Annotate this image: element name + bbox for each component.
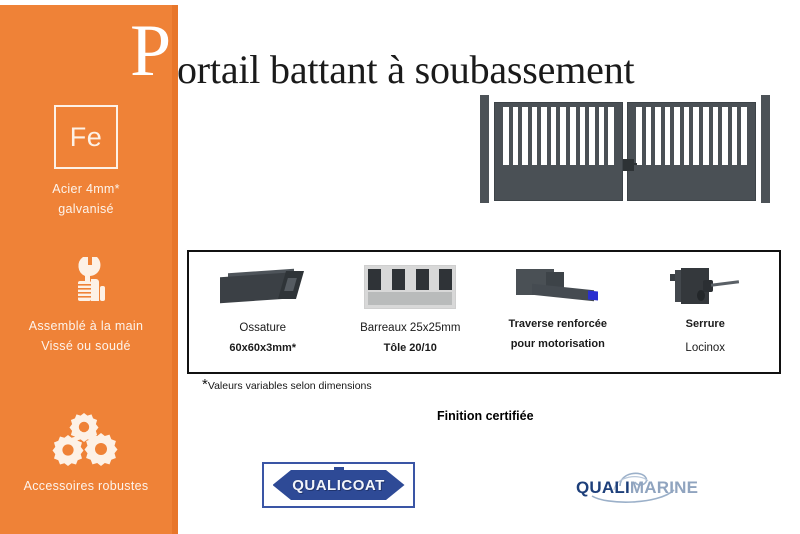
- qualimarine-text-part2: MARINE: [630, 478, 698, 497]
- component-spec: pour motorisation: [511, 336, 605, 353]
- reinforced-crossbar-icon: [510, 261, 606, 313]
- sidebar-label-accessoires: Accessoires robustes: [0, 476, 172, 496]
- gate-soubassement-left: [499, 169, 618, 196]
- component-ossature: Ossature 60x60x3mm*: [189, 252, 337, 372]
- sidebar-label-acier-line2: galvanisé: [0, 199, 172, 219]
- swing-gate-illustration: [480, 95, 770, 207]
- fe-square-icon: Fe: [54, 105, 118, 169]
- fe-symbol: Fe: [70, 122, 103, 153]
- sidebar-feature-assemblage: Assemblé à la main Vissé ou soudé: [0, 252, 172, 356]
- component-spec: Tôle 20/10: [384, 340, 437, 357]
- component-caption: Ossature: [239, 320, 286, 337]
- qualicoat-logo-text: QUALICOAT: [264, 464, 413, 506]
- gate-post-left: [480, 95, 489, 203]
- component-traverse: Traverse renforcée pour motorisation: [484, 252, 632, 372]
- sidebar-feature-accessoires: Accessoires robustes: [0, 412, 172, 496]
- gears-icon: [0, 412, 172, 468]
- gate-soubassement-right: [632, 169, 751, 196]
- qualicoat-logo: QUALICOAT: [262, 462, 415, 508]
- sidebar-label-assemblage-line2: Vissé ou soudé: [0, 336, 172, 356]
- title-initial: P: [130, 14, 171, 88]
- hand-wrench-icon: [0, 252, 172, 308]
- qualimarine-text-part1: QUALI: [576, 478, 630, 497]
- gate-leaf-right: [627, 102, 756, 201]
- sidebar-label-assemblage-line1: Assemblé à la main: [0, 316, 172, 336]
- gate-leaf-left: [494, 102, 623, 201]
- bars-sample-icon: [364, 261, 456, 313]
- component-serrure: Serrure Locinox: [632, 252, 780, 372]
- footnote-text: Valeurs variables selon dimensions: [208, 380, 372, 392]
- components-box: Ossature 60x60x3mm* Barreaux 25x25mm Tôl…: [187, 250, 781, 374]
- product-sheet: Fe Acier 4mm* galvanisé Assemblé à la ma…: [0, 0, 800, 534]
- steel-profile-icon: [220, 261, 306, 313]
- gate-handle-icon: [623, 159, 634, 171]
- gate-post-right: [761, 95, 770, 203]
- finition-label: Finition certifiée: [437, 409, 534, 423]
- gate-bars-right: [632, 107, 751, 165]
- title-text: ortail battant à soubassement: [177, 48, 634, 92]
- lock-icon: [667, 261, 743, 313]
- component-spec: Locinox: [685, 340, 725, 357]
- page-title: P ortail battant à soubassement: [130, 22, 790, 84]
- sidebar-feature-acier: Fe Acier 4mm* galvanisé: [0, 105, 172, 219]
- gate-bars-left: [499, 107, 618, 165]
- component-barreaux: Barreaux 25x25mm Tôle 20/10: [337, 252, 485, 372]
- component-spec: 60x60x3mm*: [229, 340, 296, 357]
- footnote: *Valeurs variables selon dimensions: [202, 380, 372, 392]
- sidebar-label-acier-line1: Acier 4mm*: [0, 179, 172, 199]
- component-caption: Serrure: [686, 316, 725, 333]
- component-caption: Traverse renforcée: [509, 316, 607, 333]
- component-caption: Barreaux 25x25mm: [360, 320, 460, 337]
- qualimarine-logo: QUALIMARINE: [562, 466, 710, 506]
